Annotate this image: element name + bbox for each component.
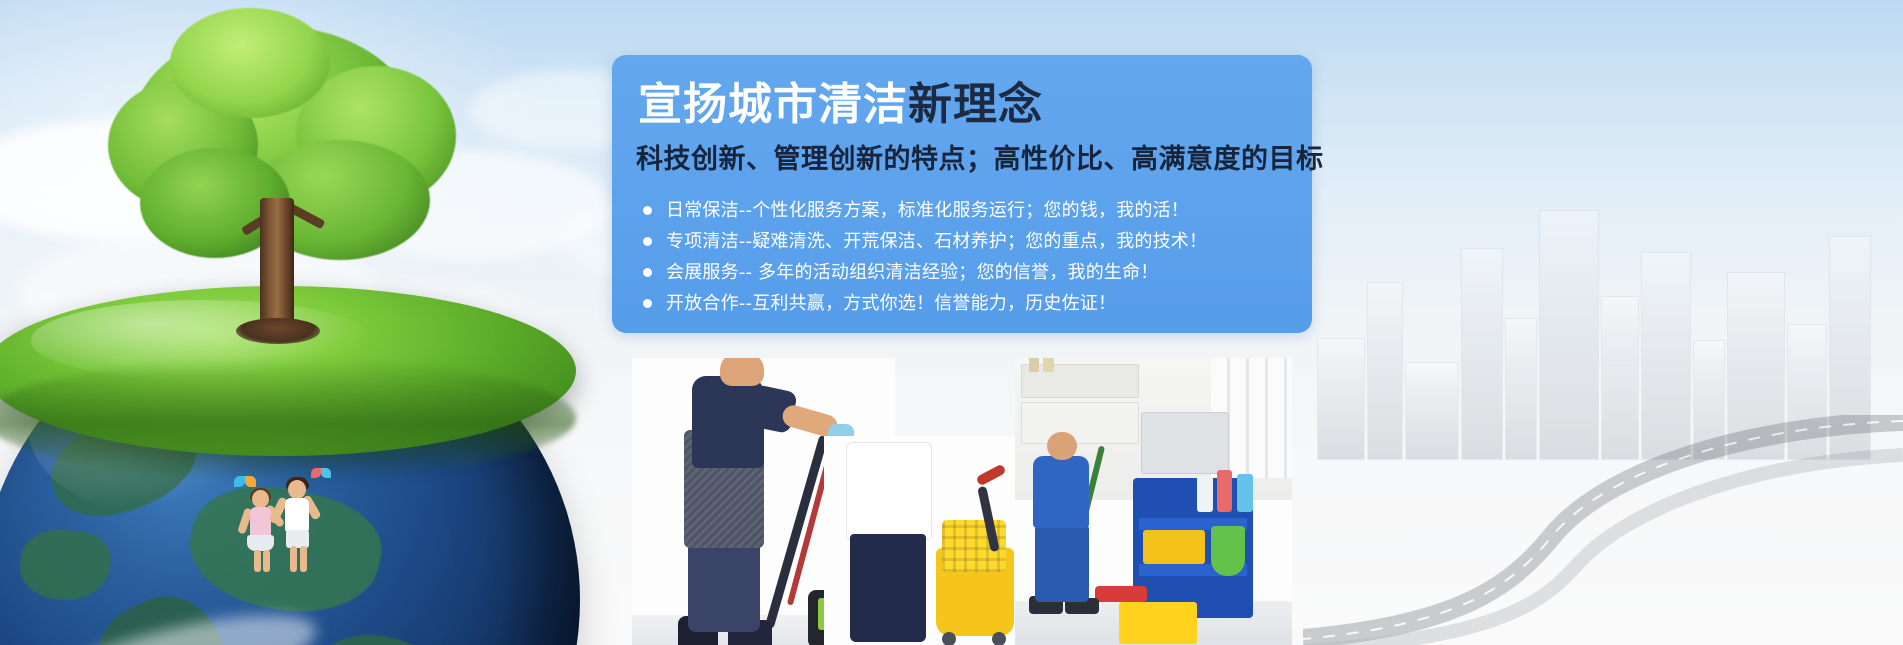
pinwheel-icon bbox=[304, 468, 324, 488]
photo-mop-bucket bbox=[824, 436, 1030, 645]
curved-road-graphic bbox=[1303, 415, 1903, 645]
list-item-label: 日常保洁--个性化服务方案，标准化服务运行；您的钱，我的活！ bbox=[666, 200, 1189, 221]
banner-stage: 宣扬城市清洁新理念 科技创新、管理创新的特点；高性价比、高满意度的目标 日常保洁… bbox=[0, 0, 1903, 645]
bullet-dot-icon bbox=[643, 268, 652, 277]
list-item: 专项清洁--疑难清洗、开荒保洁、石材养护；您的重点，我的技术！ bbox=[640, 226, 1300, 257]
tree-on-earth-illustration bbox=[0, 240, 590, 645]
list-item: 日常保洁--个性化服务方案，标准化服务运行；您的钱，我的活！ bbox=[640, 195, 1300, 226]
panel-subtitle: 科技创新、管理创新的特点；高性价比、高满意度的目标 bbox=[636, 143, 1324, 177]
photo-janitor-cart-kitchen bbox=[1015, 358, 1292, 645]
child-figure bbox=[243, 490, 277, 572]
bullet-dot-icon bbox=[643, 206, 652, 215]
bullet-dot-icon bbox=[643, 237, 652, 246]
message-panel: 宣扬城市清洁新理念 科技创新、管理创新的特点；高性价比、高满意度的目标 日常保洁… bbox=[612, 55, 1312, 333]
list-item-label: 开放合作--互利共赢，方式你选！信誉能力，历史佐证！ bbox=[666, 293, 1116, 314]
photo-strip bbox=[632, 358, 1292, 645]
list-item-label: 会展服务-- 多年的活动组织清洁经验；您的信誉，我的生命！ bbox=[666, 262, 1159, 283]
tree-icon bbox=[100, 8, 450, 348]
bullet-dot-icon bbox=[643, 299, 652, 308]
list-item: 会展服务-- 多年的活动组织清洁经验；您的信誉，我的生命！ bbox=[640, 257, 1300, 288]
list-item: 开放合作--互利共赢，方式你选！信誉能力，历史佐证！ bbox=[640, 288, 1300, 319]
headline-plain: 新理念 bbox=[908, 79, 1043, 130]
list-item-label: 专项清洁--疑难清洗、开荒保洁、石材养护；您的重点，我的技术！ bbox=[666, 231, 1207, 252]
benefit-list: 日常保洁--个性化服务方案，标准化服务运行；您的钱，我的活！ 专项清洁--疑难清… bbox=[640, 195, 1300, 319]
child-figure bbox=[277, 480, 315, 572]
panel-headline: 宣扬城市清洁新理念 bbox=[638, 79, 1043, 131]
headline-highlight: 宣扬城市清洁 bbox=[638, 79, 908, 130]
grass-shadow bbox=[0, 358, 576, 478]
